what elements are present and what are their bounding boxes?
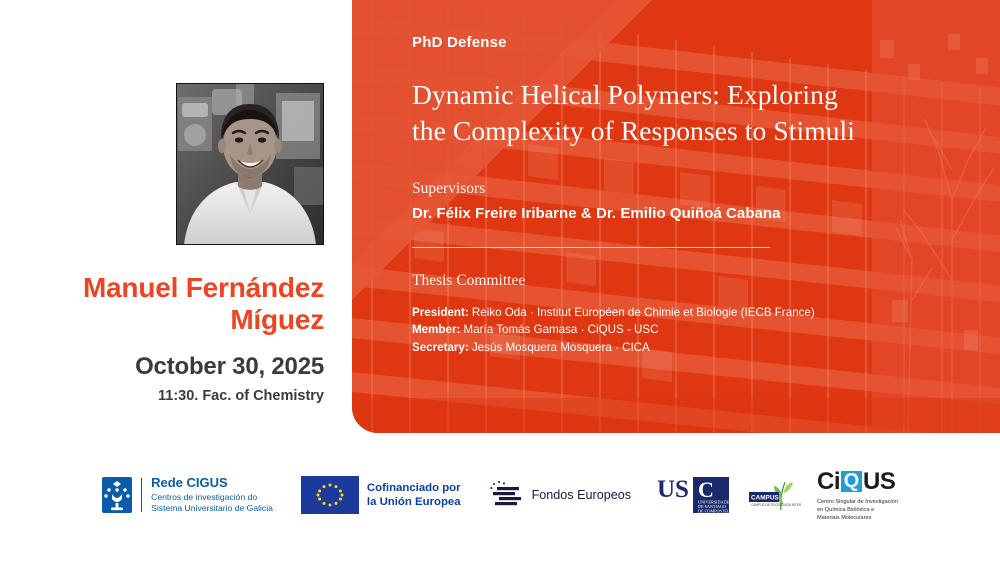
logo-ciqus: Ci Q US Centro Singular de Investigación… — [817, 468, 898, 523]
committee-list: President: Reiko Oda · Institut Européen… — [412, 304, 1000, 357]
committee-person: María Tomás Gamasa · CiQUS - USC — [460, 323, 658, 336]
left-column: Manuel Fernández Míguez October 30, 2025… — [0, 0, 352, 445]
eu-line-2: la Unión Europea — [367, 495, 461, 509]
logo-campus-vida: CAMPUS CAMPUS DE EXCELENCIA INTERNACIONA… — [749, 478, 801, 512]
svg-text:CAMPUS: CAMPUS — [751, 495, 779, 502]
committee-role: Member: — [412, 323, 460, 336]
logo-usc: US C UNIVERSIDADE DE SANTIAGO DE COMPOST… — [657, 475, 731, 515]
ciqus-subtitle: Centro Singular de Investigación en Quím… — [817, 498, 898, 523]
page-title-line-2: the Complexity of Responses to Stimuli — [412, 113, 972, 149]
eu-text-block: Cofinanciado por la Unión Europea — [367, 481, 461, 510]
page-title: Dynamic Helical Polymers: Exploring the … — [412, 77, 972, 150]
fondos-europeos-icon — [489, 480, 525, 510]
usc-crest-icon: US C UNIVERSIDADE DE SANTIAGO DE COMPOST… — [657, 475, 731, 515]
svg-text:US: US — [657, 476, 689, 503]
logo-european-union: Cofinanciado por la Unión Europea — [301, 476, 461, 514]
section-divider — [412, 247, 770, 248]
hero-content: PhD Defense Dynamic Helical Polymers: Ex… — [352, 0, 1000, 433]
ciqus-subtitle-line-1: Centro Singular de Investigación — [817, 498, 898, 506]
supervisors-label: Supervisors — [412, 180, 1000, 198]
fondos-label: Fondos Europeos — [532, 488, 631, 502]
divider — [141, 478, 142, 512]
committee-person: Jesús Mosquera Mosquera · CICA — [469, 341, 650, 354]
ciqus-subtitle-line-2: en Química Biolóxica e — [817, 506, 898, 514]
committee-person: Reiko Oda · Institut Européen de Chimie … — [469, 306, 815, 319]
committee-role: President: — [412, 306, 469, 319]
campus-vida-icon: CAMPUS CAMPUS DE EXCELENCIA INTERNACIONA… — [749, 478, 801, 512]
svg-text:CAMPUS DE EXCELENCIA INTERNACI: CAMPUS DE EXCELENCIA INTERNACIONAL — [751, 503, 801, 507]
eu-line-1: Cofinanciado por — [367, 481, 461, 495]
defense-date: October 30, 2025 — [0, 353, 324, 381]
cigus-title: Rede CIGUS — [151, 476, 273, 490]
candidate-name-line-2: Míguez — [0, 304, 324, 336]
portrait-photo-icon — [176, 83, 324, 245]
logo-rede-cigus: Rede CIGUS Centros de investigación do S… — [102, 476, 273, 514]
defense-time-place: 11:30. Fac. of Chemistry — [0, 388, 324, 404]
list-item: President: Reiko Oda · Institut Européen… — [412, 304, 1000, 322]
list-item: Secretary: Jesús Mosquera Mosquera · CIC… — [412, 339, 1000, 357]
kicker-label: PhD Defense — [412, 34, 1000, 51]
candidate-name: Manuel Fernández Míguez — [0, 272, 324, 337]
committee-label: Thesis Committee — [412, 272, 1000, 290]
supervisors-names: Dr. Félix Freire Iribarne & Dr. Emilio Q… — [412, 205, 1000, 222]
committee-role: Secretary: — [412, 341, 469, 354]
footer-logo-strip: Rede CIGUS Centros de investigación do S… — [0, 462, 1000, 528]
ciqus-wordmark: Ci Q US — [817, 468, 898, 496]
candidate-block: Manuel Fernández Míguez October 30, 2025… — [0, 272, 324, 404]
cigus-text-block: Rede CIGUS Centros de investigación do S… — [151, 476, 273, 514]
avatar — [176, 83, 324, 245]
logo-fondos-europeos: Fondos Europeos — [489, 480, 631, 510]
cigus-subtitle: Centros de investigación do Sistema Univ… — [151, 492, 273, 514]
galicia-shield-icon — [102, 477, 132, 513]
ciqus-block: Ci Q US Centro Singular de Investigación… — [817, 468, 898, 523]
candidate-name-line-1: Manuel Fernández — [0, 272, 324, 304]
ciqus-word-1: Ci — [817, 468, 840, 496]
hero-panel: PhD Defense Dynamic Helical Polymers: Ex… — [352, 0, 1000, 433]
cigus-subtitle-line-2: Sistema Universitario de Galicia — [151, 503, 273, 514]
ciqus-word-2: Q — [841, 471, 862, 492]
ciqus-word-3: US — [863, 468, 895, 496]
ciqus-subtitle-line-3: Materiais Moleculares — [817, 514, 898, 522]
poster-canvas: Manuel Fernández Míguez October 30, 2025… — [0, 0, 1000, 563]
list-item: Member: María Tomás Gamasa · CiQUS - USC — [412, 321, 1000, 339]
eu-flag-icon — [301, 476, 359, 514]
cigus-subtitle-line-1: Centros de investigación do — [151, 492, 273, 503]
page-title-line-1: Dynamic Helical Polymers: Exploring — [412, 77, 972, 113]
svg-text:DE COMPOSTELA: DE COMPOSTELA — [698, 509, 731, 514]
svg-text:C: C — [698, 477, 714, 502]
